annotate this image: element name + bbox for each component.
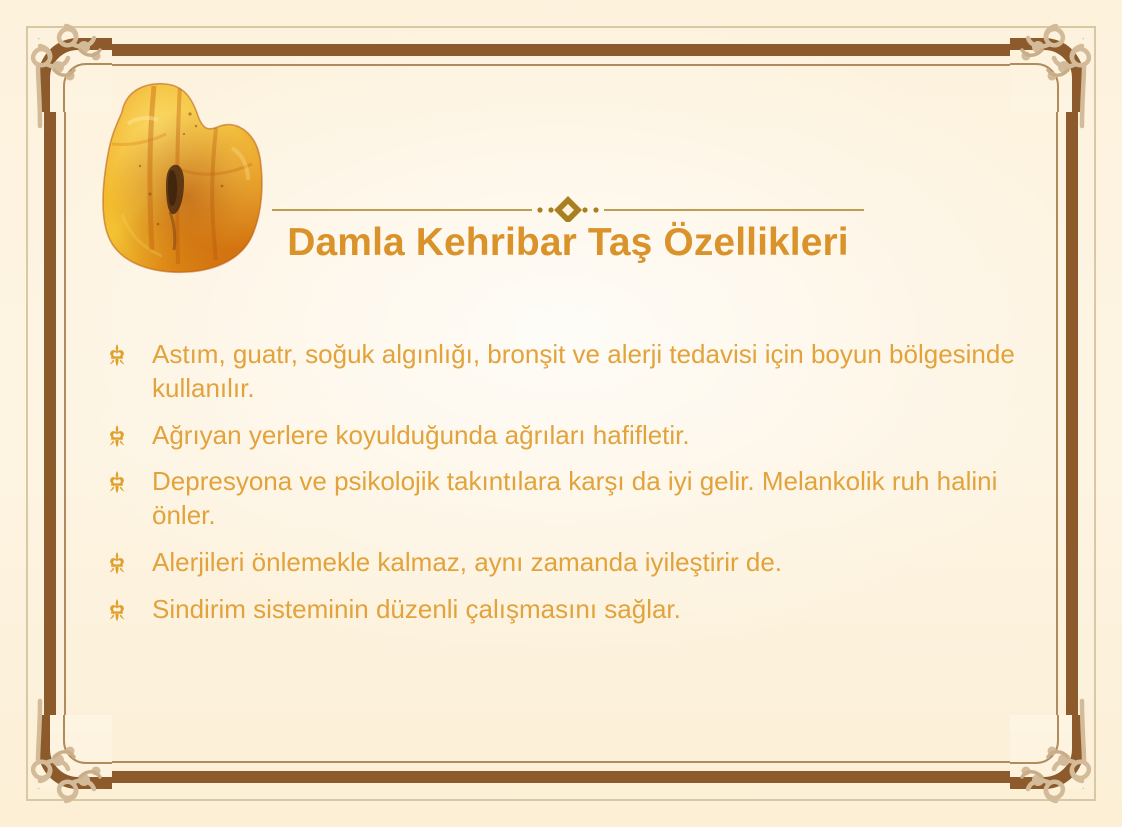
list-item-text: Depresyona ve psikolojik takıntılara kar…: [152, 466, 997, 530]
list-item-text: Ağrıyan yerlere koyulduğunda ağrıları ha…: [152, 420, 690, 450]
list-item-text: Astım, guatr, soğuk algınlığı, bronşit v…: [152, 339, 1015, 403]
fleur-de-lis-icon: [104, 550, 130, 576]
list-item: Ağrıyan yerlere koyulduğunda ağrıları ha…: [100, 419, 1030, 453]
list-item: Alerjileri önlemekle kalmaz, aynı zamand…: [100, 546, 1030, 580]
frame-corner-top-right: [1010, 38, 1084, 112]
corner-flourish-bottom-left-icon: [14, 693, 134, 813]
list-item: Astım, guatr, soğuk algınlığı, bronşit v…: [100, 338, 1030, 406]
list-item: Sindirim sisteminin düzenli çalışmasını …: [100, 593, 1030, 627]
page-title: Damla Kehribar Taş Özellikleri: [268, 222, 868, 264]
corner-flourish-bottom-right-icon: [988, 693, 1108, 813]
info-card: Damla Kehribar Taş Özellikleri Ast: [0, 0, 1122, 827]
list-item-text: Alerjileri önlemekle kalmaz, aynı zamand…: [152, 547, 782, 577]
list-item: Depresyona ve psikolojik takıntılara kar…: [100, 465, 1030, 533]
frame-corner-bottom-left: [38, 715, 112, 789]
fleur-de-lis-icon: [104, 469, 130, 495]
list-item-text: Sindirim sisteminin düzenli çalışmasını …: [152, 594, 681, 624]
benefit-list: Astım, guatr, soğuk algınlığı, bronşit v…: [100, 338, 1030, 627]
corner-flourish-top-right-icon: [988, 14, 1108, 134]
frame-corner-bottom-right: [1010, 715, 1084, 789]
title-block: Damla Kehribar Taş Özellikleri: [268, 188, 868, 264]
fleur-de-lis-icon: [104, 597, 130, 623]
fleur-de-lis-icon: [104, 423, 130, 449]
ornamental-divider: [268, 188, 868, 222]
fleur-de-lis-icon: [104, 342, 130, 368]
amber-stone-image: [92, 74, 274, 278]
